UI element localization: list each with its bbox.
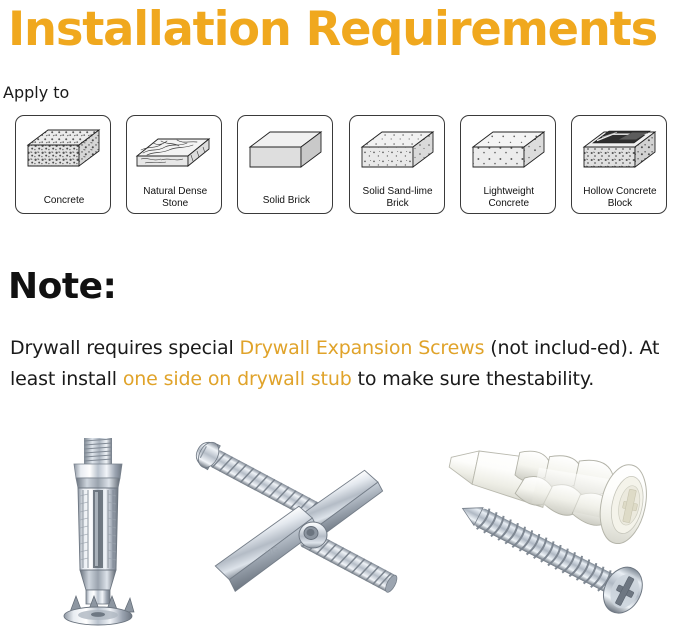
sand-lime-brick-icon — [354, 123, 440, 179]
apply-to-label: Apply to — [3, 83, 69, 102]
material-card-hollow-concrete-block: Hollow Concrete Block — [571, 115, 667, 214]
material-card-lightweight-concrete: Lightweight Concrete — [460, 115, 556, 214]
natural-stone-slab-icon — [131, 123, 217, 179]
material-label: Solid Sand-lime Brick — [352, 186, 444, 209]
hollow-concrete-block-icon — [576, 123, 662, 179]
note-line1-highlight: Drywall Expansion Screws — [240, 337, 485, 359]
note-line1-pre: Drywall requires special — [10, 337, 240, 359]
note-line2-highlight: one side on drywall stub — [123, 368, 352, 390]
solid-brick-icon — [242, 123, 328, 179]
material-label: Natural Dense Stone — [129, 186, 221, 209]
material-label: Hollow Concrete Block — [574, 186, 666, 209]
self-drilling-drywall-anchor-photo — [435, 428, 677, 623]
note-heading: Note: — [8, 266, 116, 308]
material-card-solid-sand-lime-brick: Solid Sand-lime Brick — [349, 115, 445, 214]
material-list: Concrete — [15, 115, 667, 214]
material-label: Solid Brick — [240, 195, 332, 207]
note-body: Drywall requires special Drywall Expansi… — [10, 333, 675, 395]
note-line2-post: to make sure the — [352, 368, 517, 390]
material-label: Lightweight Concrete — [463, 186, 555, 209]
note-line1-post: (not includ- — [484, 337, 597, 359]
spring-toggle-bolt-photo: VG — [185, 425, 410, 625]
page-title: Installation Requirements — [8, 2, 666, 58]
material-label: Concrete — [18, 195, 110, 207]
material-card-solid-brick: Solid Brick — [237, 115, 333, 214]
installation-requirements-page: Installation Requirements Apply to — [0, 0, 679, 628]
note-line3: stability. — [517, 368, 594, 390]
metal-hollow-wall-anchor-photo — [36, 430, 166, 628]
material-card-natural-dense-stone: Natural Dense Stone — [126, 115, 222, 214]
product-photo-row: VG — [0, 420, 679, 628]
lightweight-concrete-icon — [465, 123, 551, 179]
concrete-block-icon — [20, 123, 106, 179]
material-card-concrete: Concrete — [15, 115, 111, 214]
